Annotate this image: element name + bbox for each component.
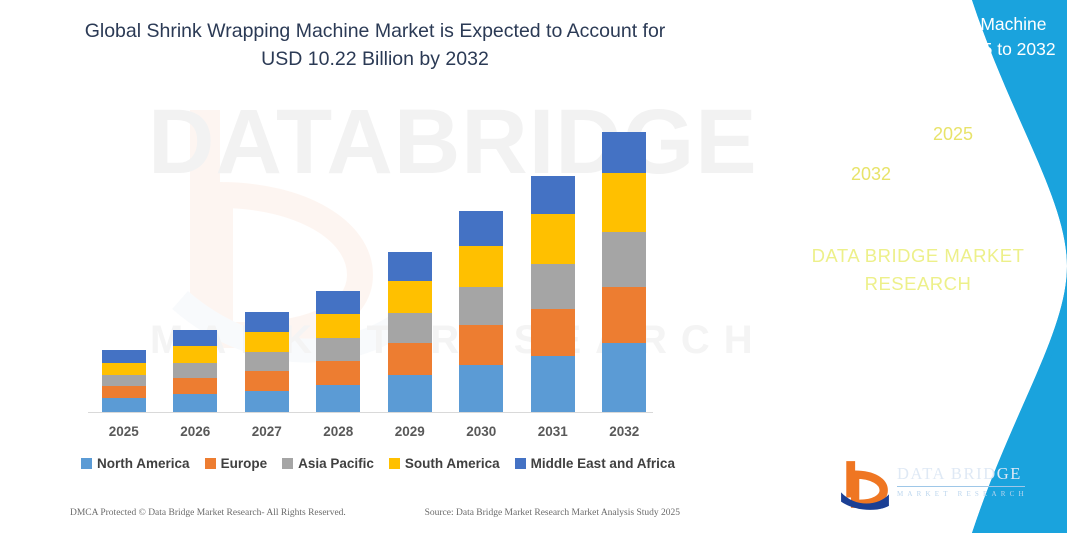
panel-title: Global Shrink Wrapping Machine Market, B… [791, 12, 1059, 63]
bar-segment[interactable] [316, 361, 360, 385]
infographic-root: DATABRIDGE MARKET RESEARCH Global Shrink… [0, 0, 1067, 533]
bar-segment[interactable] [173, 394, 217, 412]
bar-segment[interactable] [102, 398, 146, 412]
bar-segment[interactable] [316, 291, 360, 314]
x-axis-label: 2029 [374, 424, 446, 439]
legend-label: South America [405, 456, 500, 471]
x-axis-label: 2031 [517, 424, 589, 439]
bar-column [374, 100, 446, 412]
legend-swatch-icon [205, 458, 216, 469]
bar-segment[interactable] [602, 132, 646, 172]
hexagon-outline-icon [785, 90, 1065, 210]
bar-segment[interactable] [173, 330, 217, 346]
data-bridge-logo-icon [839, 458, 891, 510]
x-axis-label: 2030 [446, 424, 518, 439]
stacked-bar-chart [88, 100, 660, 412]
bar-segment[interactable] [388, 375, 432, 412]
panel-brand-name: DATA BRIDGE MARKET RESEARCH [777, 242, 1059, 298]
brand-panel: Global Shrink Wrapping Machine Market, B… [667, 0, 1067, 533]
bar-segment[interactable] [531, 264, 575, 309]
bar-segment[interactable] [245, 391, 289, 412]
chart-title: Global Shrink Wrapping Machine Market is… [70, 18, 680, 73]
footer-copyright: DMCA Protected © Data Bridge Market Rese… [70, 508, 346, 518]
hex-label-end: 2032 [851, 164, 891, 185]
stacked-bar[interactable] [102, 350, 146, 412]
x-axis-label: 2028 [303, 424, 375, 439]
legend-item[interactable]: Middle East and Africa [515, 456, 675, 471]
bar-segment[interactable] [102, 386, 146, 398]
bar-segment[interactable] [459, 246, 503, 287]
bar-segment[interactable] [388, 252, 432, 281]
bar-segment[interactable] [173, 346, 217, 363]
stacked-bar[interactable] [602, 132, 646, 412]
x-axis-label: 2026 [160, 424, 232, 439]
bar-segment[interactable] [245, 352, 289, 371]
legend-item[interactable]: Europe [205, 456, 268, 471]
bar-segment[interactable] [388, 313, 432, 343]
bar-segment[interactable] [316, 338, 360, 361]
bar-segment[interactable] [245, 332, 289, 352]
brand-logo-text: DATA BRIDGE MARKET RESEARCH [897, 464, 1028, 498]
bar-segment[interactable] [459, 287, 503, 325]
bar-column [589, 100, 661, 412]
bar-segment[interactable] [602, 173, 646, 233]
bar-segment[interactable] [459, 365, 503, 412]
stacked-bar[interactable] [173, 330, 217, 412]
stacked-bar[interactable] [531, 176, 575, 412]
chart-legend: North AmericaEuropeAsia PacificSouth Ame… [88, 456, 668, 471]
bar-segment[interactable] [602, 287, 646, 343]
stacked-bar[interactable] [459, 211, 503, 412]
legend-item[interactable]: Asia Pacific [282, 456, 374, 471]
bar-segment[interactable] [388, 343, 432, 375]
legend-swatch-icon [282, 458, 293, 469]
bar-segment[interactable] [316, 385, 360, 412]
x-axis-line [88, 412, 653, 413]
bar-segment[interactable] [531, 214, 575, 264]
bar-column [231, 100, 303, 412]
bar-segment[interactable] [531, 356, 575, 412]
bar-segment[interactable] [531, 176, 575, 214]
bar-segment[interactable] [316, 314, 360, 338]
legend-swatch-icon [389, 458, 400, 469]
stacked-bar[interactable] [245, 312, 289, 412]
brand-logo-title: DATA BRIDGE [897, 464, 1028, 484]
bar-segment[interactable] [245, 371, 289, 391]
bar-segment[interactable] [245, 312, 289, 332]
legend-item[interactable]: North America [81, 456, 190, 471]
legend-label: Middle East and Africa [531, 456, 675, 471]
legend-swatch-icon [81, 458, 92, 469]
bar-column [88, 100, 160, 412]
legend-item[interactable]: South America [389, 456, 500, 471]
x-axis-label: 2025 [88, 424, 160, 439]
footer-source: Source: Data Bridge Market Research Mark… [425, 508, 680, 518]
hex-label-start: 2025 [933, 124, 973, 145]
bar-segment[interactable] [173, 363, 217, 378]
bar-segment[interactable] [602, 343, 646, 412]
bar-segment[interactable] [602, 232, 646, 286]
legend-label: North America [97, 456, 190, 471]
stacked-bar[interactable] [316, 291, 360, 412]
bar-segment[interactable] [102, 363, 146, 375]
bar-column [160, 100, 232, 412]
x-axis-label: 2027 [231, 424, 303, 439]
brand-logo: DATA BRIDGE MARKET RESEARCH [839, 458, 1044, 516]
stacked-bar[interactable] [388, 252, 432, 412]
bar-segment[interactable] [173, 378, 217, 394]
bar-segment[interactable] [102, 375, 146, 386]
brand-logo-subtitle: MARKET RESEARCH [897, 490, 1028, 498]
bar-segment[interactable] [531, 309, 575, 356]
brand-logo-rule [897, 486, 1025, 487]
bar-column [303, 100, 375, 412]
legend-label: Europe [221, 456, 268, 471]
bar-segment[interactable] [388, 281, 432, 313]
legend-swatch-icon [515, 458, 526, 469]
bar-segment[interactable] [102, 350, 146, 363]
x-axis-label: 2032 [589, 424, 661, 439]
x-axis-labels: 20252026202720282029203020312032 [88, 424, 660, 439]
bar-segment[interactable] [459, 325, 503, 365]
bar-column [517, 100, 589, 412]
bar-segment[interactable] [459, 211, 503, 246]
bar-column [446, 100, 518, 412]
hexagon-badges: 2025 2032 [785, 90, 1065, 210]
legend-label: Asia Pacific [298, 456, 374, 471]
footer: DMCA Protected © Data Bridge Market Rese… [70, 508, 680, 518]
chart-panel: Global Shrink Wrapping Machine Market is… [0, 0, 760, 533]
